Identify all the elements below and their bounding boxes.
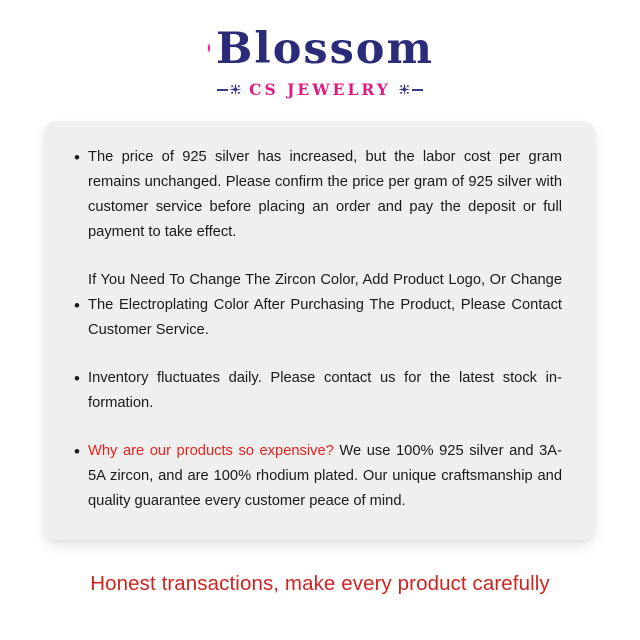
bullet-icon: • [74,366,88,391]
bullet-icon: • [74,145,88,170]
notice-item-customization: • If You Need To Change The Zircon Color… [74,268,562,343]
notice-item-pricing-explanation: • Why are our products so expensive? We … [74,439,562,514]
ornament-left [217,83,242,96]
notice-item-inventory: • Inventory fluctuates daily. Please con… [74,366,562,416]
ornament-dash-left-icon [217,89,228,91]
bullet-icon: • [74,439,88,464]
notice-text-inventory: Inventory fluctuates daily. Please conta… [88,366,562,416]
brand-subtitle-row: CS JEWELRY [0,80,640,99]
notice-item-price: • The price of 925 silver has increased,… [74,145,562,245]
sparkle-diamond-icon [204,43,214,53]
ornament-right [398,83,423,96]
brand-wordmark: Blossom [206,28,434,71]
brand-subtitle-text: CS JEWELRY [249,80,391,99]
notice-text-price: The price of 925 silver has increased, b… [88,145,562,245]
bullet-icon: • [74,297,88,314]
notice-text-pricing-explanation: Why are our products so expensive? We us… [88,439,562,514]
notice-highlight-question: Why are our products so expensive? [88,443,334,459]
brand-header: Blossom CS JEWELRY [0,0,640,99]
notice-card: • The price of 925 silver has increased,… [44,121,595,540]
diamond-flake-left-icon [229,83,242,96]
notice-list: • The price of 925 silver has increased,… [74,145,562,514]
diamond-flake-right-icon [398,83,411,96]
brand-wordmark-text: Blossom [216,24,434,74]
footer-slogan: Honest transactions, make every product … [0,572,640,596]
notice-text-customization: If You Need To Change The Zircon Color, … [88,268,562,343]
ornament-dash-right-icon [412,89,423,91]
